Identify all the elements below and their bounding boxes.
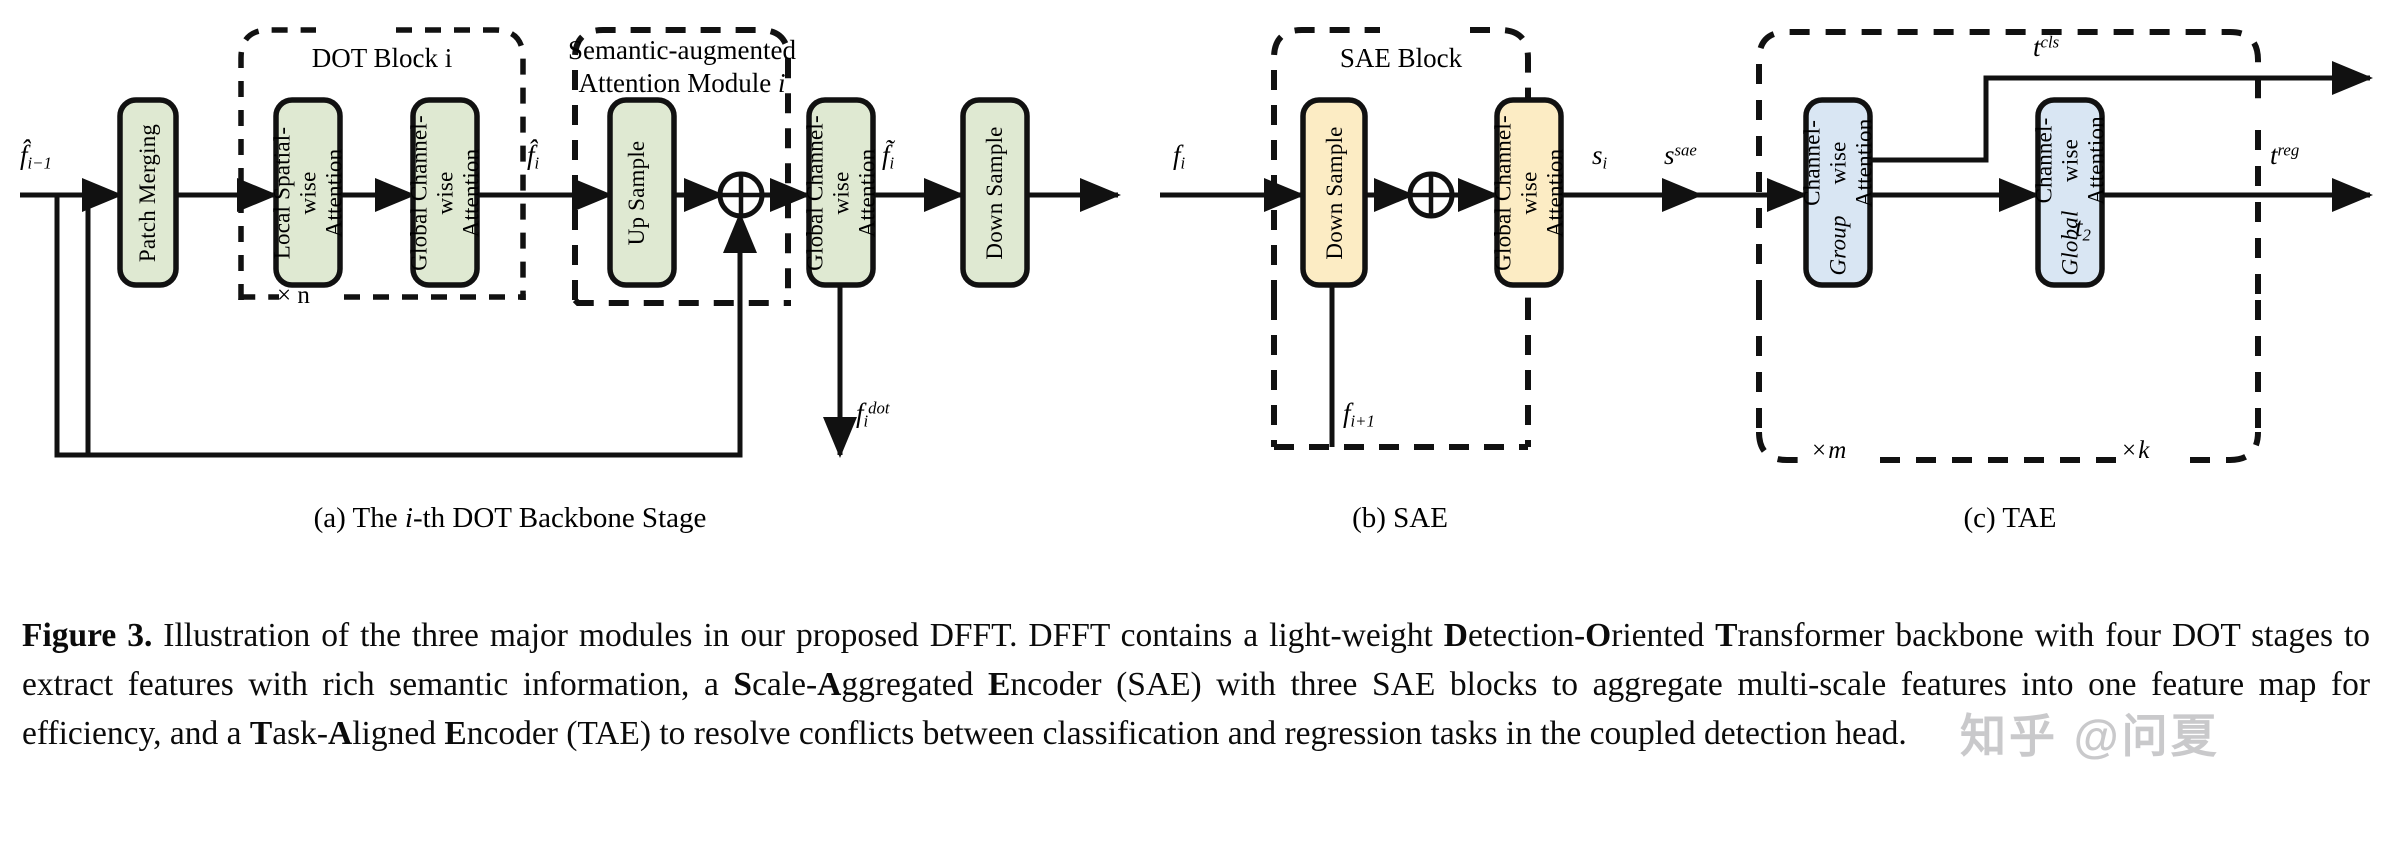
figure-caption: Figure 3. Illustration of the three majo… (22, 612, 2370, 759)
diagram-canvas (0, 0, 2392, 600)
figure-diagram: DOT Block i Semantic-augmentedAttention … (0, 0, 2392, 600)
